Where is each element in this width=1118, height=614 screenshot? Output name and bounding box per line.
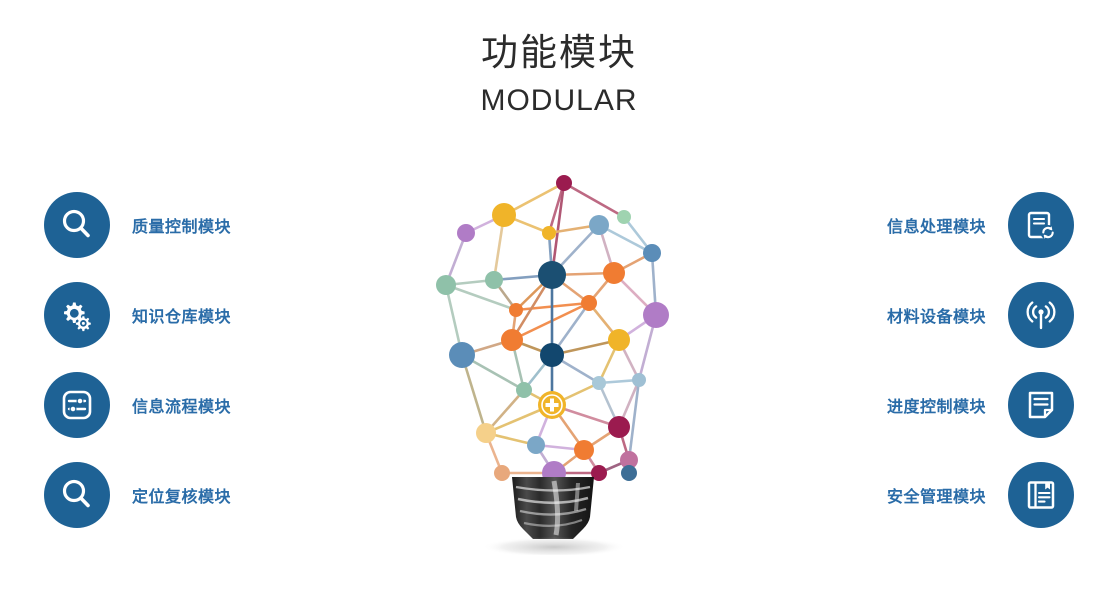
module-label: 知识仓库模块 <box>132 303 231 327</box>
module-item-progress-control[interactable]: 进度控制模块 <box>774 372 1074 438</box>
module-label: 定位复核模块 <box>132 483 231 507</box>
antenna-signal-icon <box>1008 282 1074 348</box>
bulb-base <box>512 477 594 539</box>
module-item-information-flow[interactable]: 信息流程模块 <box>44 372 344 438</box>
lightbulb-network-graphic <box>424 155 694 555</box>
note-folded-corner-icon <box>1008 372 1074 438</box>
module-item-quality-control[interactable]: 质量控制模块 <box>44 192 344 258</box>
right-module-column: 信息处理模块 材料设备模块 <box>774 192 1074 552</box>
module-label: 进度控制模块 <box>887 393 986 417</box>
module-label: 信息处理模块 <box>887 213 986 237</box>
module-label: 信息流程模块 <box>132 393 231 417</box>
module-label: 安全管理模块 <box>887 483 986 507</box>
page-subtitle: MODULAR <box>0 81 1118 121</box>
book-bookmark-icon <box>1008 462 1074 528</box>
module-item-material-equipment[interactable]: 材料设备模块 <box>774 282 1074 348</box>
sliders-icon <box>44 372 110 438</box>
module-item-location-review[interactable]: 定位复核模块 <box>44 462 344 528</box>
module-label: 质量控制模块 <box>132 213 231 237</box>
module-item-safety-management[interactable]: 安全管理模块 <box>774 462 1074 528</box>
page-title-block: 功能模块 MODULAR <box>0 30 1118 121</box>
module-item-knowledge-warehouse[interactable]: 知识仓库模块 <box>44 282 344 348</box>
magnifier-icon <box>44 462 110 528</box>
magnifier-icon <box>44 192 110 258</box>
left-module-column: 质量控制模块 知识仓库模块 <box>44 192 344 552</box>
page-title: 功能模块 <box>0 30 1118 76</box>
module-item-information-processing[interactable]: 信息处理模块 <box>774 192 1074 258</box>
gears-icon <box>44 282 110 348</box>
module-label: 材料设备模块 <box>887 303 986 327</box>
document-refresh-icon <box>1008 192 1074 258</box>
